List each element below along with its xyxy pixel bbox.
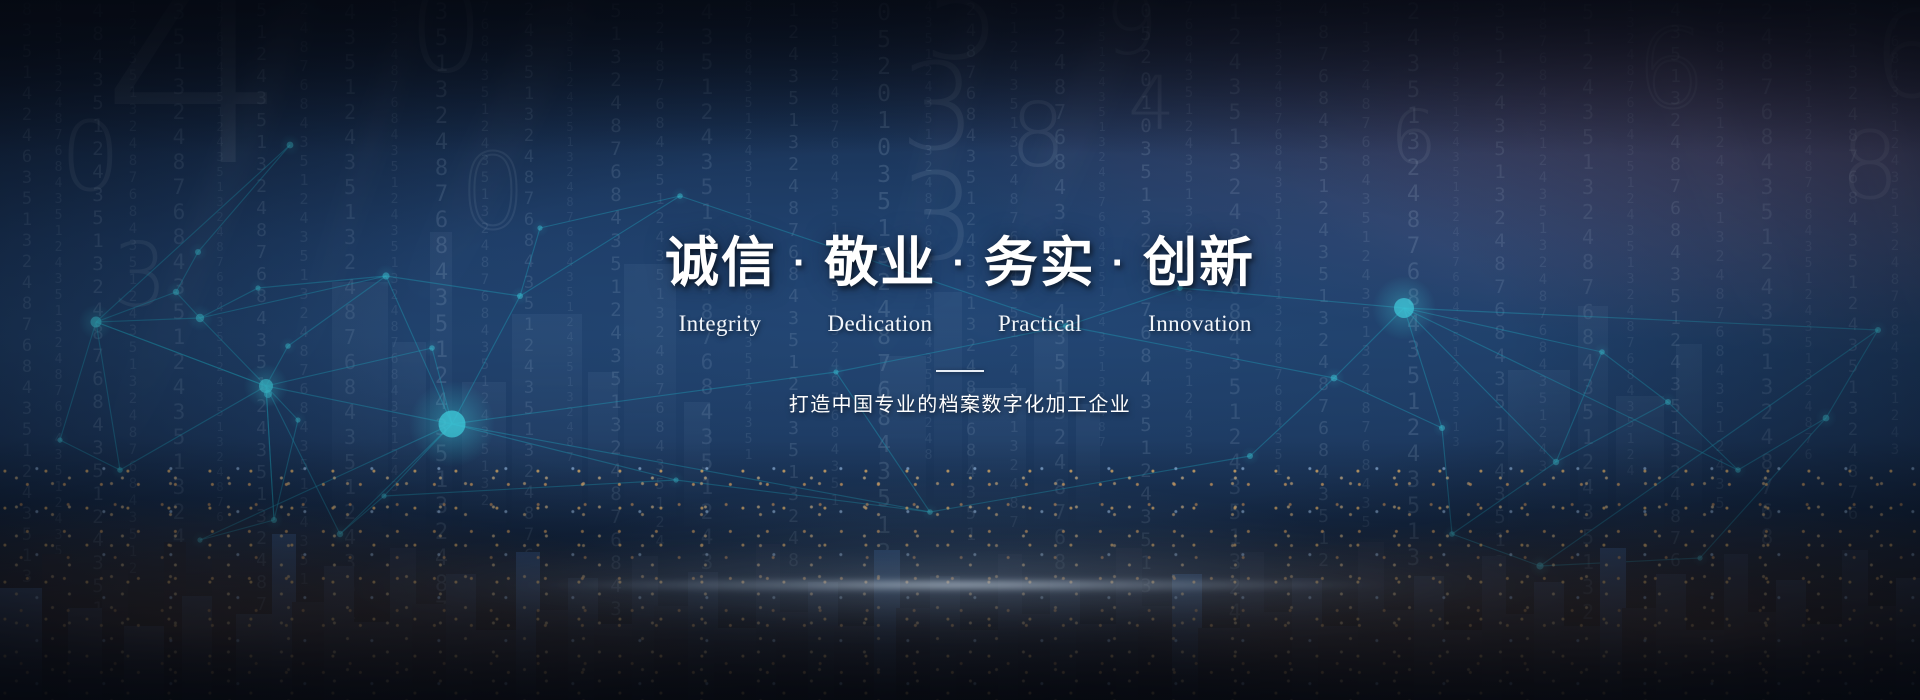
ghost-numeral: 0 [460,150,526,235]
skyline-building [350,622,394,700]
headline-keyword-2: 敬业 [824,236,936,290]
skyline-building [1018,614,1054,700]
skyline-building [654,606,692,700]
ghost-numeral: 3 [900,60,976,158]
ghost-numeral: 6 [1872,8,1920,106]
skyline-building [42,554,72,700]
skyline-building [1744,612,1780,700]
skyline-building [1682,630,1728,700]
slogan-divider [936,370,984,372]
skyline-building [182,596,216,700]
skyline-building [1076,624,1120,700]
headline-keyword-3: 务实 [984,236,1096,290]
skyline-building [1656,574,1686,700]
skyline-building [1724,554,1748,700]
skyline-building [164,542,186,700]
skyline-building [236,614,276,700]
skyline-building [1896,578,1920,700]
skyline-building [1260,612,1296,700]
ghost-numeral: 0 [408,0,484,80]
skyline-building [1318,626,1362,700]
english-slogan-4: Innovation [1120,312,1280,335]
headline-keyword-1: 诚信 [665,236,777,290]
ghost-numeral: 6 [1636,24,1706,114]
headline-separator: · [1112,243,1127,283]
skyline-building [896,608,934,700]
ghost-numeral: 4 [1128,74,1175,135]
skyline-building [536,610,572,700]
skyline-building [1842,550,1868,700]
skyline-building [1802,624,1846,700]
ghost-numeral: 6 [1390,108,1437,169]
ghost-numeral: 4 [100,0,291,182]
tower-silhouette [1076,404,1100,532]
skyline-building [472,630,520,700]
skyline-building [1622,608,1660,700]
headline-keyword-4: 创新 [1143,236,1255,290]
skyline-building [1502,614,1538,700]
skyline-building [1600,548,1626,700]
english-slogan-row: IntegrityDedicationPracticalInnovation [0,312,1920,335]
skyline-building [834,626,878,700]
english-slogan-3: Practical [960,312,1120,335]
skyline-building [594,624,636,700]
english-slogan-2: Dedication [800,312,960,335]
skyline-building [1440,630,1486,700]
skyline-building [1380,610,1418,700]
skyline-building [776,612,812,700]
ghost-numeral: 0 [60,118,121,197]
ghost-numeral: 9 [1104,0,1159,61]
skyline-building [102,570,128,700]
english-slogan-1: Integrity [640,312,800,335]
skyline-building [212,560,240,700]
skyline-building [292,602,328,700]
skyline-building [714,628,760,700]
skyline-building [0,588,46,700]
skyline-building [68,608,106,700]
skyline-building [1864,606,1902,700]
ghost-numeral: 8 [1840,128,1900,205]
headline-separator: · [952,243,967,283]
banner-content: 诚信·敬业·务实·创新 IntegrityDedicationPractical… [0,236,1920,415]
skyline-building [1198,628,1244,700]
ghost-numeral: 8 [1010,100,1066,172]
skyline-building [1138,606,1176,700]
skyline-building [956,630,1002,700]
banner-subtitle: 打造中国专业的档案数字化加工企业 [0,395,1920,415]
tower-silhouette [684,402,710,532]
skyline-building [124,626,168,700]
skyline-building [1560,626,1604,700]
skyline-building [272,534,296,700]
ghost-numeral: 5 [920,0,1003,67]
headline-separator: · [793,243,808,283]
headline-slogan: 诚信·敬业·务实·创新 [0,236,1920,290]
hero-banner: 8351424635132487684351243513248768430351… [0,0,1920,700]
tower-silhouette [1616,396,1664,532]
skyline-building [1776,580,1806,700]
horizon-light-streak [520,577,1400,593]
